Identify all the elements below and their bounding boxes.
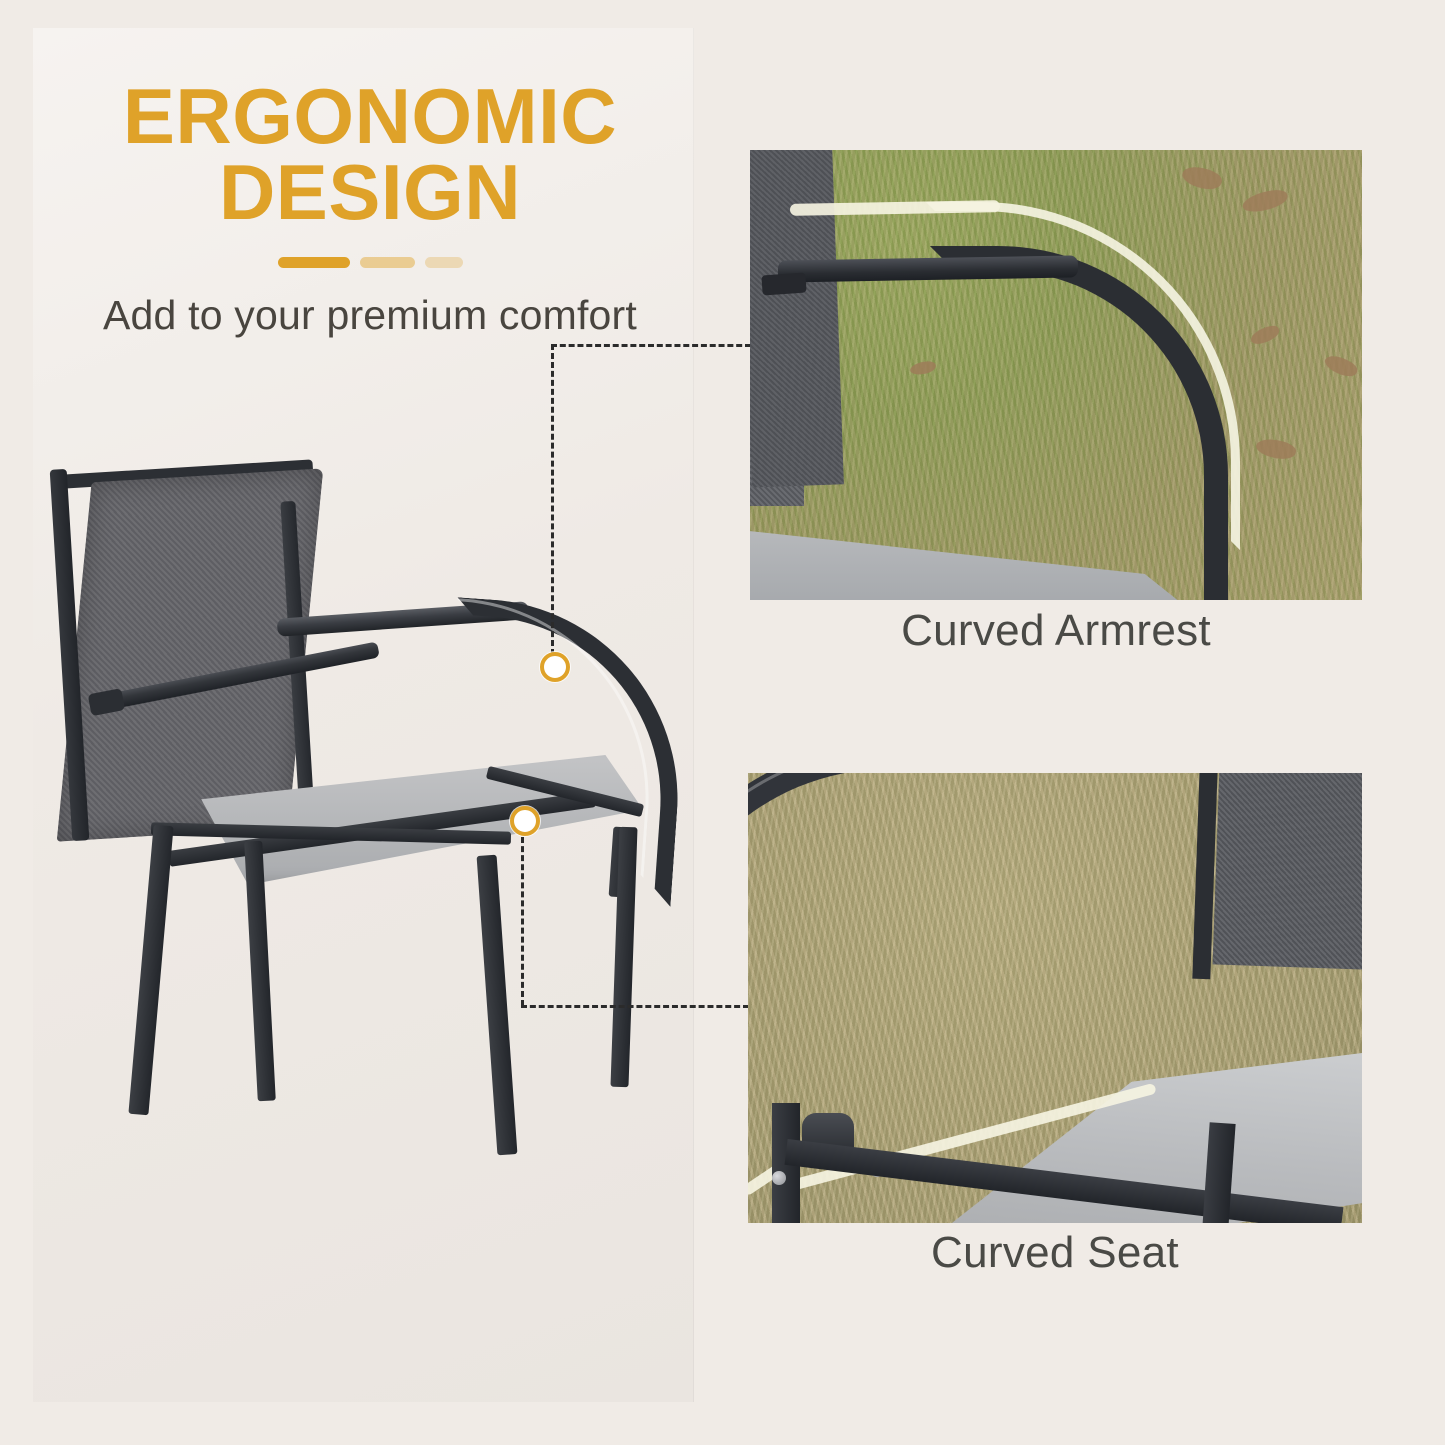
product-infographic: ERGONOMIC DESIGN Add to your premium com… [0,0,1445,1445]
chair-illustration [55,455,675,1185]
accent-dash-1 [278,257,350,268]
headline-line-1: ERGONOMIC [123,72,617,160]
detail-screw [772,1171,786,1185]
connector-vertical-armrest [551,344,554,664]
accent-dash-3 [425,257,463,268]
product-photo [55,455,675,1185]
accent-dash-2 [360,257,415,268]
headline-block: ERGONOMIC DESIGN Add to your premium com… [60,78,680,339]
connector-vertical-seat [521,828,524,1006]
connector-horizontal-seat [521,1005,749,1008]
caption-curved-armrest: Curved Armrest [750,606,1362,656]
seat-marker[interactable] [510,806,540,836]
detail-armrest-joint [761,272,806,295]
chair-leg-front-left [128,825,173,1116]
top-detail-photo [750,150,1362,600]
page-title: ERGONOMIC DESIGN [60,78,680,231]
caption-curved-seat: Curved Seat [748,1228,1362,1278]
connector-horizontal-armrest [551,344,751,347]
accent-dashes [263,257,478,268]
bottom-detail-photo [748,773,1362,1223]
headline-line-2: DESIGN [60,154,680,230]
subtitle: Add to your premium comfort [60,292,680,339]
chair-leg-back-left [477,855,518,1156]
detail-back-mesh [1213,773,1362,970]
detail-chair-back-panel [750,150,844,488]
armrest-marker[interactable] [540,652,570,682]
